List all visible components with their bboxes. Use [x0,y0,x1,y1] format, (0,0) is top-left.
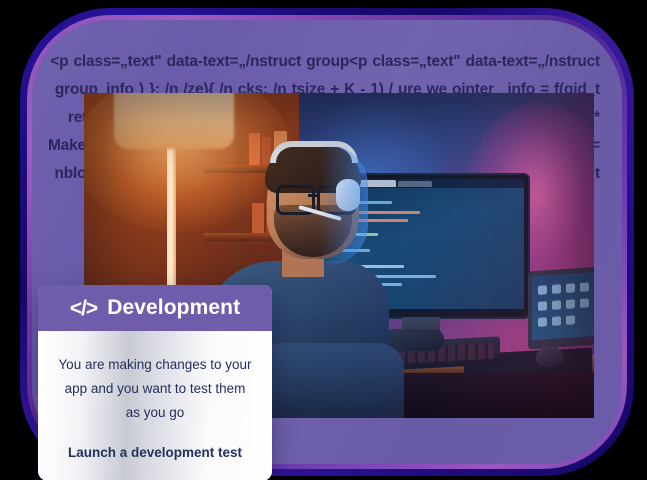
development-card[interactable]: </> Development You are making changes t… [38,285,272,480]
screenshot-root: <p class=„text" data-text=„/nstruct grou… [0,0,647,480]
development-card-title: Development [107,296,240,320]
development-card-header: </> Development [38,285,272,331]
code-icon: </> [70,298,97,319]
development-card-body: You are making changes to your app and y… [38,331,272,480]
development-card-description: You are making changes to your app and y… [56,353,254,425]
launch-development-test-button[interactable]: Launch a development test [56,445,254,460]
